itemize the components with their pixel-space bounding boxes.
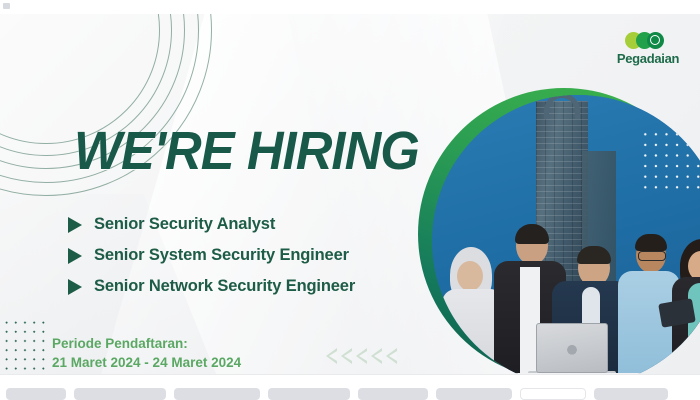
period-label: Periode Pendaftaran: [52, 334, 241, 353]
job-title: Senior Network Security Engineer [94, 277, 355, 296]
divider [0, 374, 700, 375]
dot-grid-photo-decoration [640, 129, 700, 191]
chevron-left-icon [371, 348, 382, 364]
placeholder-row [0, 384, 700, 400]
triangle-bullet-icon [68, 217, 82, 233]
placeholder-block[interactable] [520, 388, 586, 400]
page-title: WE'RE HIRING [74, 124, 419, 178]
chevron-left-icon [341, 348, 352, 364]
triangle-bullet-icon [68, 248, 82, 264]
job-title: Senior Security Analyst [94, 215, 275, 234]
logo-wordmark: Pegadaian [612, 51, 684, 66]
chevron-left-icon [386, 348, 397, 364]
job-list: Senior Security Analyst Senior System Se… [68, 209, 355, 302]
hiring-poster: WE'RE HIRING Senior Security Analyst Sen… [0, 14, 700, 374]
registration-period: Periode Pendaftaran: 21 Maret 2024 - 24 … [52, 334, 241, 372]
placeholder-block[interactable] [436, 388, 512, 400]
placeholder-block[interactable] [594, 388, 668, 400]
placeholder-block[interactable] [74, 388, 166, 400]
triangle-bullet-icon [68, 279, 82, 295]
top-white-strip [0, 0, 700, 14]
period-dates: 21 Maret 2024 - 24 Maret 2024 [52, 353, 241, 372]
placeholder-block[interactable] [6, 388, 66, 400]
list-item: Senior Security Analyst [68, 209, 355, 240]
top-speck [3, 3, 10, 9]
photo-circle-mask [432, 95, 700, 374]
placeholder-block[interactable] [268, 388, 350, 400]
screenshot-root: WE'RE HIRING Senior Security Analyst Sen… [0, 0, 700, 400]
logo-mark-icon [625, 32, 671, 49]
placeholder-block[interactable] [174, 388, 260, 400]
bottom-placeholder-bar [0, 374, 700, 400]
tower-crown [544, 95, 580, 119]
list-item: Senior System Security Engineer [68, 240, 355, 271]
team-photo [418, 88, 700, 374]
pegadaian-logo: Pegadaian [612, 32, 684, 66]
list-item: Senior Network Security Engineer [68, 271, 355, 302]
people-group [432, 187, 700, 374]
placeholder-block[interactable] [358, 388, 428, 400]
laptop [536, 323, 608, 373]
chevron-decoration [326, 348, 397, 364]
dot-grid-left-decoration [2, 318, 48, 374]
chevron-left-icon [356, 348, 367, 364]
chevron-left-icon [326, 348, 337, 364]
job-title: Senior System Security Engineer [94, 246, 349, 265]
